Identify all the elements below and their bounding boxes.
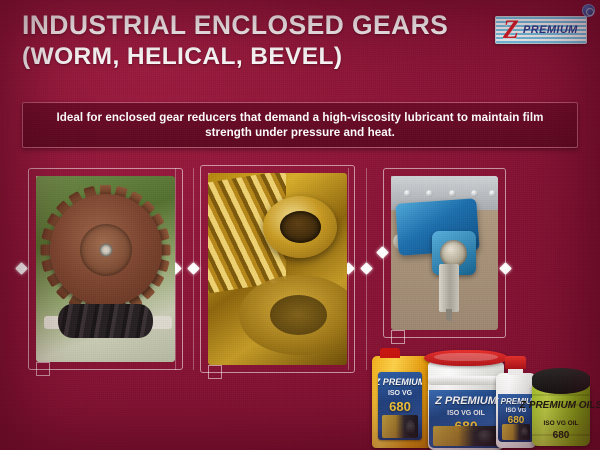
gear-ring-bore xyxy=(263,196,337,258)
output-shaft xyxy=(439,264,459,312)
photo-rusty-worm-gear xyxy=(36,176,175,362)
diamond-accent xyxy=(187,262,200,275)
product-viscosity: 680 xyxy=(553,430,570,441)
logo-wordmark: PREMIUM xyxy=(523,24,578,36)
subtitle-text: Ideal for enclosed gear reducers that de… xyxy=(45,110,555,141)
globe-badge-icon xyxy=(582,4,595,17)
product-brand: Z PREMIUM xyxy=(435,395,497,407)
product-grade: ISO VG OIL xyxy=(543,420,578,427)
subtitle-banner: Ideal for enclosed gear reducers that de… xyxy=(22,102,578,148)
product-artwork xyxy=(433,426,499,446)
page-title-line1: INDUSTRIAL ENCLOSED GEARS xyxy=(22,10,492,41)
page-title-line2: (WORM, HELICAL, BEVEL) xyxy=(22,41,492,72)
product-bucket: Z PREMIUM ISO VG OIL 680 xyxy=(426,350,506,450)
photo-brass-helical-gears xyxy=(208,173,347,365)
product-drum: Z PREMIUM OILS ISO VG OIL 680 xyxy=(532,368,590,446)
product-grade: ISO VG OIL xyxy=(447,410,485,417)
bottle-cap xyxy=(505,356,526,369)
slide-canvas: INDUSTRIAL ENCLOSED GEARS (WORM, HELICAL… xyxy=(0,0,600,450)
product-artwork xyxy=(382,415,418,438)
product-grade: ISO VG xyxy=(388,390,412,397)
photo-frame-helical-gear xyxy=(200,165,355,373)
product-artwork xyxy=(502,424,530,440)
photo-frame-worm-gear xyxy=(28,168,183,370)
diamond-accent xyxy=(15,262,28,275)
bucket-grip xyxy=(428,376,504,385)
header: INDUSTRIAL ENCLOSED GEARS (WORM, HELICAL… xyxy=(22,10,492,72)
photo-frame-gearbox xyxy=(383,168,506,338)
brand-logo: Z PREMIUM xyxy=(495,16,587,44)
product-viscosity: 680 xyxy=(389,399,411,414)
photo-blue-gearbox xyxy=(391,176,498,330)
diamond-accent xyxy=(360,262,373,275)
bucket-label: Z PREMIUM ISO VG OIL 680 xyxy=(429,390,503,448)
logo-z-mark: Z xyxy=(503,16,519,44)
jerry-can-label: Z PREMIUM ISO VG 680 xyxy=(378,372,422,440)
jerry-can-cap xyxy=(380,348,400,358)
lower-gear xyxy=(239,275,347,355)
drum-top xyxy=(532,368,590,394)
worm-screw xyxy=(58,304,153,338)
gear-bore xyxy=(99,244,112,257)
product-brand: Z PREMIUM OILS xyxy=(520,400,600,411)
product-lineup: Z PREMIUM ISO VG 680 Z PREMIUM ISO VG OI… xyxy=(366,336,600,450)
product-brand: Z PREMIUM xyxy=(378,377,422,387)
product-jerry-can: Z PREMIUM ISO VG 680 xyxy=(372,356,434,448)
